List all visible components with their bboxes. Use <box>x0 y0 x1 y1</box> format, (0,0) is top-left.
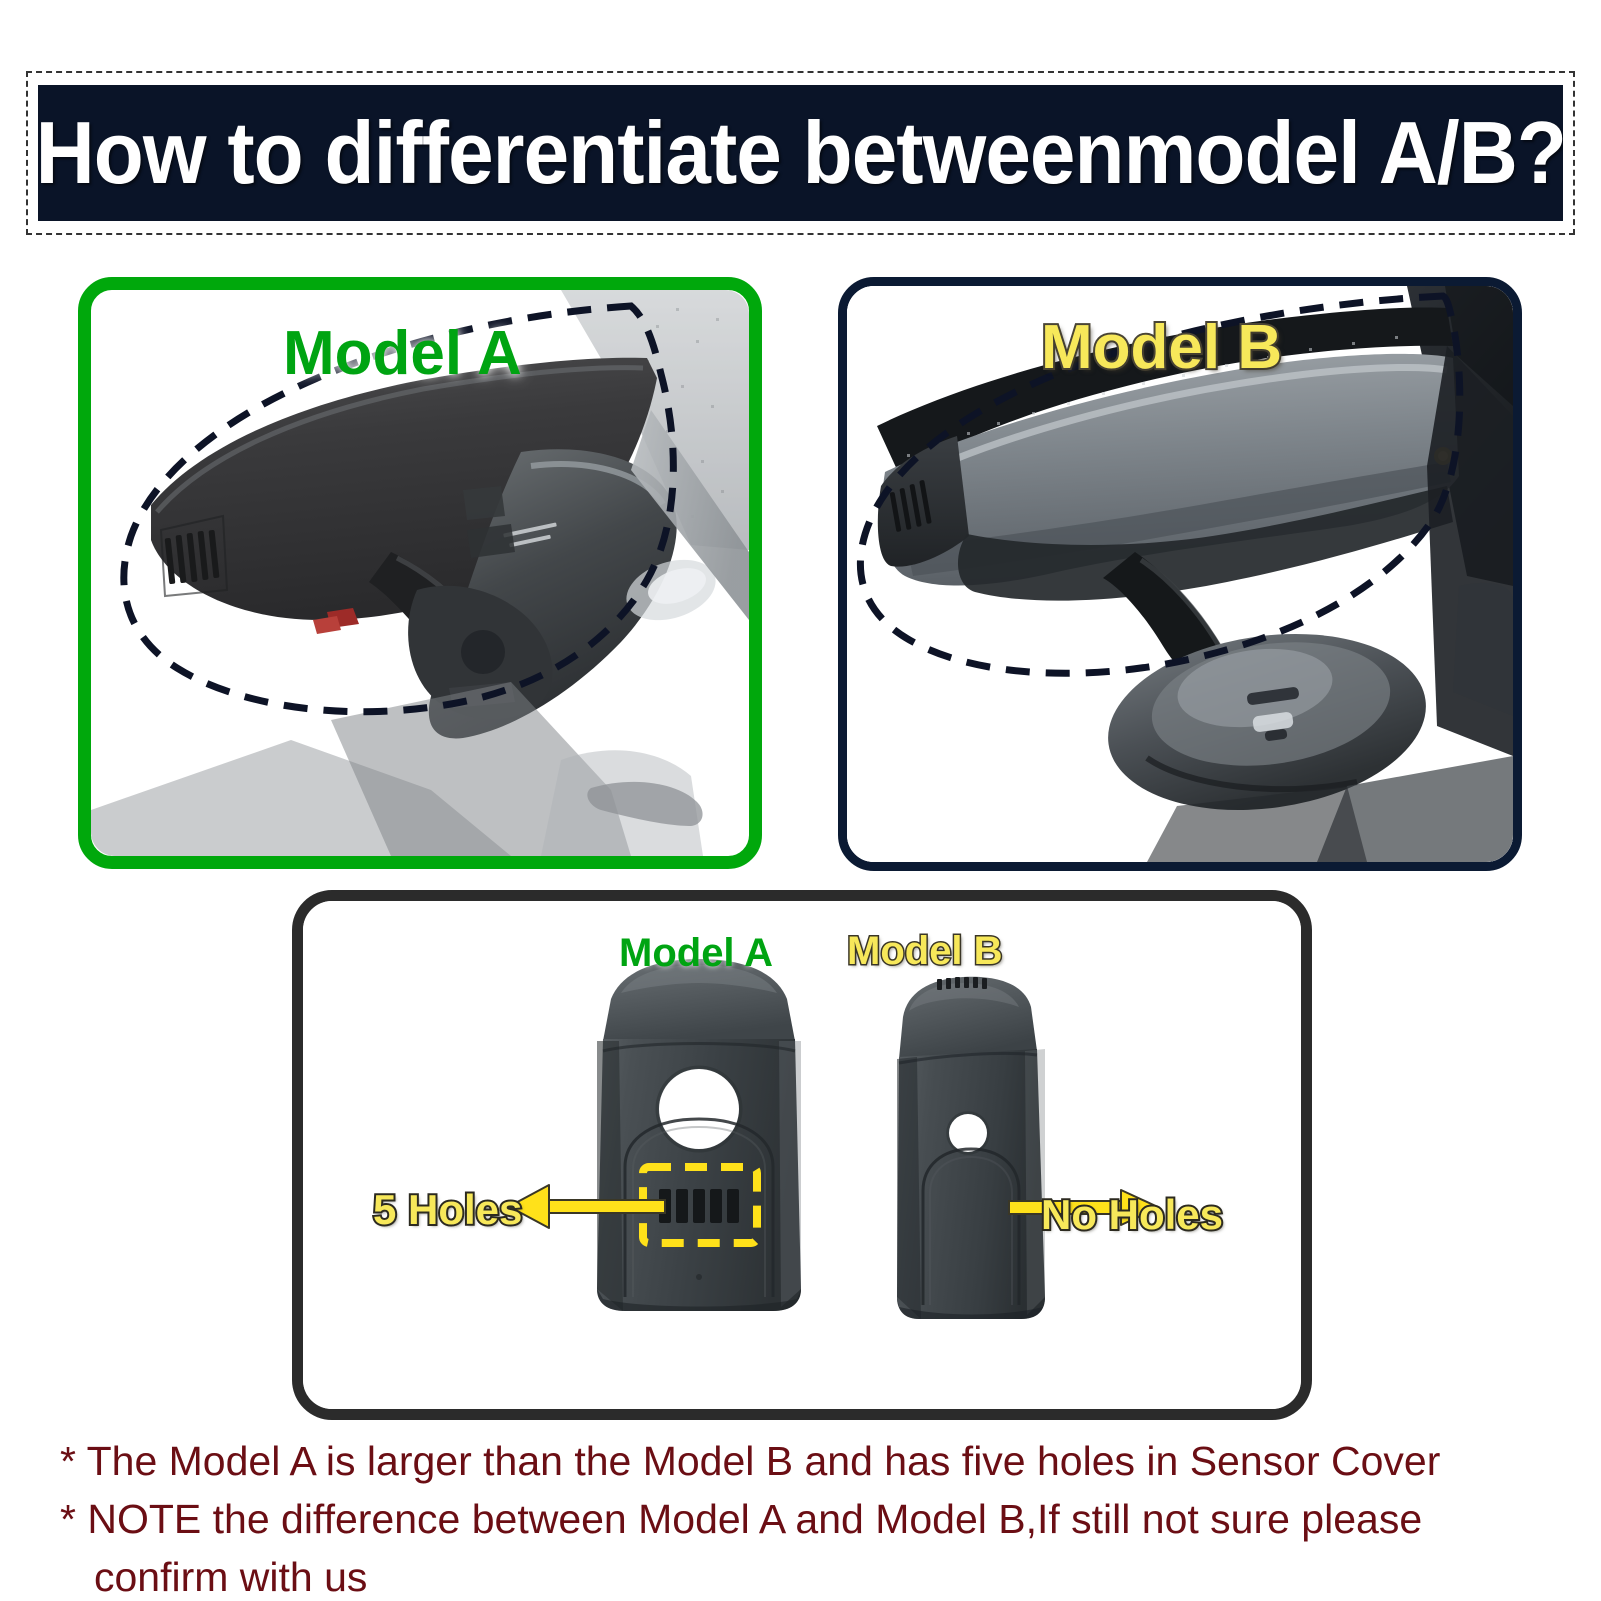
comparison-panel: Model A Model B 5 Holes No Holes <box>292 890 1312 1420</box>
panel-model-b-inner: Model B <box>847 286 1513 862</box>
title-banner: How to differentiate betweenmodel A/B? <box>38 85 1563 221</box>
comparison-panel-inner: Model A Model B 5 Holes No Holes <box>303 901 1301 1409</box>
infographic-page: How to differentiate betweenmodel A/B? <box>0 0 1601 1601</box>
panel-model-b-label: Model B <box>1041 312 1282 383</box>
footer-note-3: confirm with us <box>60 1548 1550 1601</box>
comparison-label-model-a: Model A <box>619 931 773 976</box>
page-title: How to differentiate betweenmodel A/B? <box>38 102 1563 204</box>
footer-note-1: * The Model A is larger than the Model B… <box>60 1432 1550 1490</box>
callout-no-holes: No Holes <box>1041 1191 1223 1239</box>
footer-notes: * The Model A is larger than the Model B… <box>60 1432 1550 1601</box>
model-a-five-holes <box>659 1189 739 1223</box>
panel-model-b: Model B <box>838 277 1522 871</box>
comparison-label-model-b: Model B <box>847 929 1003 974</box>
footer-note-2: * NOTE the difference between Model A an… <box>60 1490 1550 1548</box>
panel-model-a-inner: Model A <box>91 290 749 856</box>
panel-model-a-label: Model A <box>283 318 522 389</box>
product-comparison-illustration <box>303 901 1301 1409</box>
callout-five-holes: 5 Holes <box>373 1186 522 1234</box>
panel-model-a: Model A <box>78 277 762 869</box>
